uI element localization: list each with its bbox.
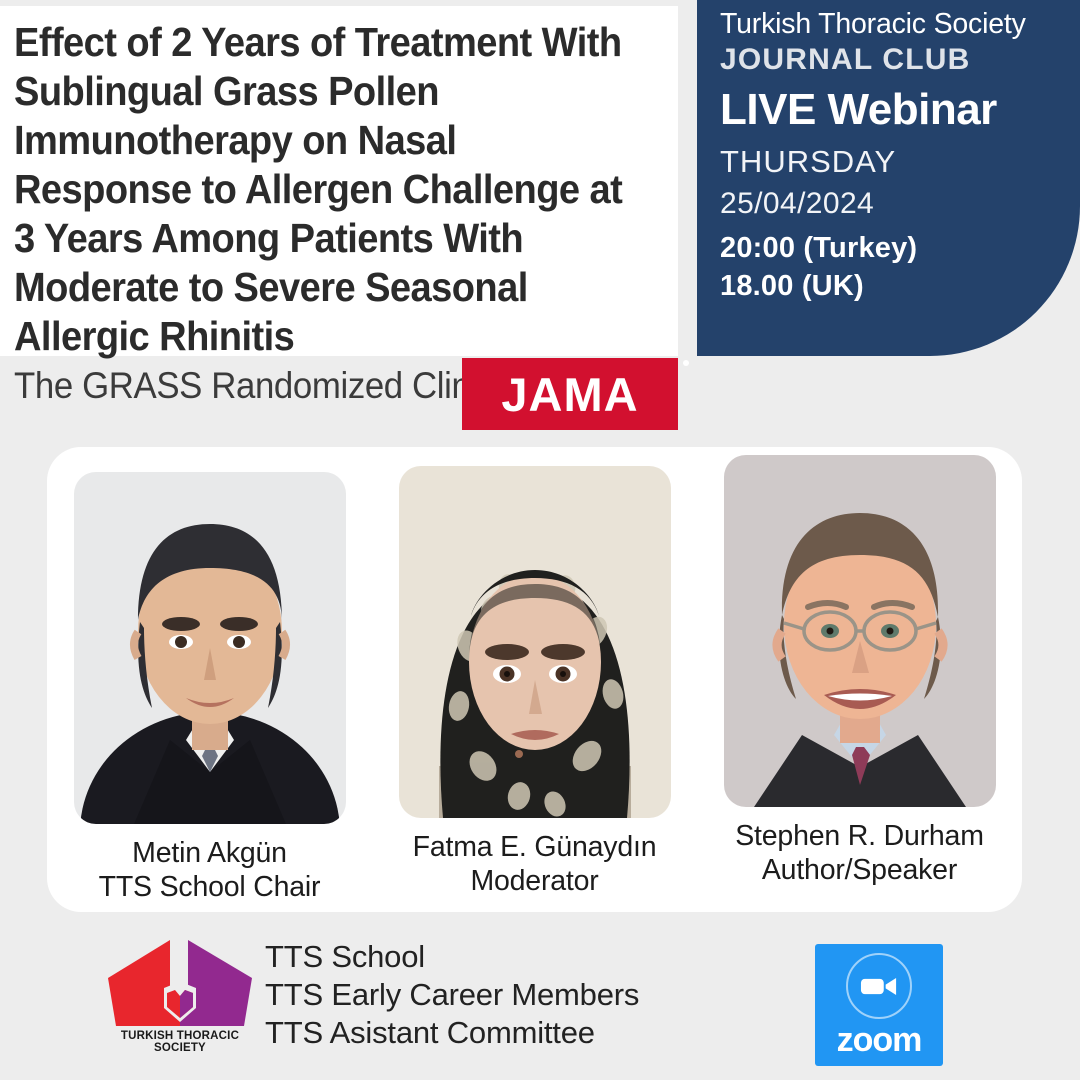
- speaker-name: Metin Akgün: [132, 836, 287, 870]
- series-name: JOURNAL CLUB: [720, 42, 1080, 78]
- speakers-card: Metin Akgün TTS School Chair: [47, 447, 1022, 912]
- speakers-row: Metin Akgün TTS School Chair: [47, 447, 1022, 912]
- organization-name: Turkish Thoracic Society: [720, 6, 1080, 42]
- speaker-item: Metin Akgün TTS School Chair: [60, 472, 360, 904]
- registered-trademark-icon: [683, 360, 689, 366]
- jama-logo-text: JAMA: [501, 371, 638, 418]
- portrait-illustration-3: [724, 455, 996, 807]
- portrait-illustration-1: [74, 472, 346, 824]
- webinar-time-turkey: 20:00 (Turkey): [720, 229, 1080, 267]
- footer-committee-list: TTS School TTS Early Career Members TTS …: [265, 938, 639, 1052]
- portrait-illustration-2: [399, 466, 671, 818]
- zoom-wordmark: zoom: [837, 1023, 922, 1057]
- video-camera-icon: [846, 953, 912, 1019]
- tts-lungs-icon: [96, 936, 264, 1034]
- speaker-role: Moderator: [470, 864, 598, 898]
- camera-glyph: [860, 975, 898, 998]
- webinar-poster: Effect of 2 Years of Treatment With Subl…: [0, 0, 1080, 1080]
- speaker-role: Author/Speaker: [762, 853, 957, 887]
- tts-logo-caption: TURKISH THORACIC SOCIETY: [96, 1030, 264, 1054]
- speaker-role: TTS School Chair: [99, 870, 321, 904]
- speaker-photo-fatma-gunaydin: [399, 466, 671, 818]
- speaker-photo-stephen-durham: [724, 455, 996, 807]
- article-title: Effect of 2 Years of Treatment With Subl…: [14, 18, 625, 361]
- speaker-name: Stephen R. Durham: [735, 819, 983, 853]
- webinar-time-uk: 18.00 (UK): [720, 267, 1080, 305]
- webinar-date: 25/04/2024: [720, 183, 1080, 225]
- zoom-logo: zoom: [815, 944, 943, 1066]
- footer-line: TTS Early Career Members: [265, 976, 639, 1014]
- webinar-day: THURSDAY: [720, 141, 1080, 183]
- speaker-name: Fatma E. Günaydın: [413, 830, 657, 864]
- tts-logo: TURKISH THORACIC SOCIETY: [96, 936, 264, 1054]
- webinar-info-panel: Turkish Thoracic Society JOURNAL CLUB LI…: [697, 0, 1080, 356]
- footer-line: TTS Asistant Committee: [265, 1014, 639, 1052]
- speaker-photo-metin-akgun: [74, 472, 346, 824]
- speaker-item: Stephen R. Durham Author/Speaker: [710, 455, 1010, 887]
- article-title-panel: Effect of 2 Years of Treatment With Subl…: [0, 6, 678, 356]
- webinar-headline: LIVE Webinar: [720, 82, 1080, 138]
- footer-line: TTS School: [265, 938, 639, 976]
- jama-logo: JAMA: [462, 358, 678, 430]
- speaker-item: Fatma E. Günaydın Moderator: [385, 466, 685, 898]
